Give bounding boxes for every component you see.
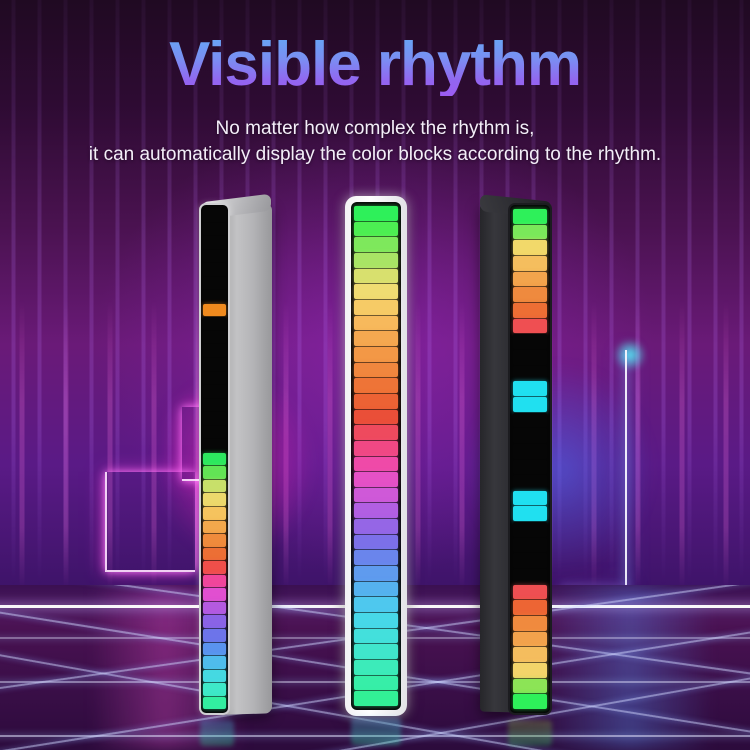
led-block — [203, 426, 226, 439]
led-block — [513, 366, 547, 381]
led-block — [354, 222, 398, 237]
product-device-middle[interactable] — [345, 196, 407, 718]
led-block — [513, 240, 547, 255]
led-block — [513, 600, 547, 615]
led-block — [354, 425, 398, 440]
led-block — [513, 381, 547, 396]
led-block — [354, 597, 398, 612]
led-block — [203, 453, 226, 466]
led-block — [354, 253, 398, 268]
led-block — [354, 237, 398, 252]
led-block — [354, 394, 398, 409]
led-block — [513, 460, 547, 475]
led-block — [513, 585, 547, 600]
led-block — [203, 250, 226, 263]
led-block — [203, 290, 226, 303]
subtitle-line-2: it can automatically display the color b… — [0, 142, 750, 169]
led-block — [513, 334, 547, 349]
led-block — [203, 507, 226, 520]
led-block — [354, 378, 398, 393]
led-block — [354, 535, 398, 550]
led-block — [513, 444, 547, 459]
page-title: Visible rhythm — [0, 34, 750, 96]
led-block — [203, 493, 226, 506]
led-block — [354, 347, 398, 362]
led-block — [513, 632, 547, 647]
led-block — [513, 287, 547, 302]
led-block — [354, 629, 398, 644]
led-block — [513, 553, 547, 568]
led-block — [513, 569, 547, 584]
led-block — [513, 679, 547, 694]
neon-vertical-line-right — [625, 350, 627, 588]
led-block — [513, 225, 547, 240]
led-block — [513, 350, 547, 365]
led-block — [354, 284, 398, 299]
led-block — [513, 319, 547, 334]
led-strip — [513, 209, 547, 709]
cyan-glow-point — [612, 340, 648, 370]
led-block — [203, 317, 226, 330]
led-block — [513, 522, 547, 537]
device-left-body-side — [224, 203, 272, 714]
led-block — [203, 683, 226, 696]
device-left-reflection — [200, 720, 234, 746]
led-block — [203, 615, 226, 628]
led-block — [203, 480, 226, 493]
device-left-led-panel — [199, 203, 230, 715]
led-block — [354, 550, 398, 565]
led-block — [513, 209, 547, 224]
led-block — [513, 647, 547, 662]
led-block — [203, 358, 226, 371]
led-block — [203, 466, 226, 479]
led-block — [203, 670, 226, 683]
led-block — [203, 399, 226, 412]
led-block — [354, 676, 398, 691]
blue-glow — [430, 320, 690, 620]
led-strip — [354, 206, 398, 706]
led-block — [203, 629, 226, 642]
device-right-reflection — [508, 720, 552, 746]
led-block — [354, 691, 398, 706]
product-device-right[interactable] — [478, 198, 556, 720]
led-block — [354, 519, 398, 534]
led-block — [203, 344, 226, 357]
led-block — [354, 269, 398, 284]
led-block — [354, 644, 398, 659]
led-block — [354, 660, 398, 675]
led-block — [203, 277, 226, 290]
led-block — [354, 472, 398, 487]
led-block — [203, 521, 226, 534]
led-block — [354, 457, 398, 472]
led-block — [203, 331, 226, 344]
device-right-led-panel — [508, 203, 552, 715]
led-block — [203, 602, 226, 615]
led-block — [203, 561, 226, 574]
led-block — [203, 412, 226, 425]
subtitle-line-1: No matter how complex the rhythm is, — [0, 116, 750, 143]
led-block — [513, 397, 547, 412]
led-block — [354, 410, 398, 425]
led-block — [203, 304, 226, 317]
neon-rectangle-left — [105, 472, 195, 572]
product-device-left[interactable] — [196, 198, 274, 720]
led-block — [203, 697, 226, 710]
led-block — [513, 491, 547, 506]
led-block — [513, 272, 547, 287]
led-block — [513, 428, 547, 443]
product-banner: Visible rhythm No matter how complex the… — [0, 0, 750, 750]
led-block — [203, 656, 226, 669]
led-block — [354, 503, 398, 518]
led-block — [203, 575, 226, 588]
led-block — [203, 439, 226, 452]
led-block — [354, 613, 398, 628]
led-block — [203, 588, 226, 601]
led-block — [513, 256, 547, 271]
led-block — [354, 206, 398, 221]
led-block — [203, 372, 226, 385]
led-block — [203, 643, 226, 656]
led-block — [203, 236, 226, 249]
led-block — [354, 441, 398, 456]
led-block — [354, 363, 398, 378]
led-block — [513, 303, 547, 318]
led-block — [513, 413, 547, 428]
led-block — [203, 385, 226, 398]
led-block — [203, 223, 226, 236]
led-block — [203, 209, 226, 222]
led-block — [513, 475, 547, 490]
led-block — [513, 616, 547, 631]
led-block — [513, 538, 547, 553]
led-block — [354, 566, 398, 581]
led-block — [354, 488, 398, 503]
led-block — [354, 582, 398, 597]
led-block — [354, 316, 398, 331]
device-middle-reflection — [351, 717, 401, 745]
led-block — [354, 331, 398, 346]
led-block — [513, 506, 547, 521]
led-block — [513, 663, 547, 678]
led-block — [203, 534, 226, 547]
led-block — [354, 300, 398, 315]
led-strip — [203, 209, 226, 709]
led-block — [203, 548, 226, 561]
device-middle-led-panel — [351, 202, 401, 710]
led-block — [513, 694, 547, 709]
led-block — [203, 263, 226, 276]
